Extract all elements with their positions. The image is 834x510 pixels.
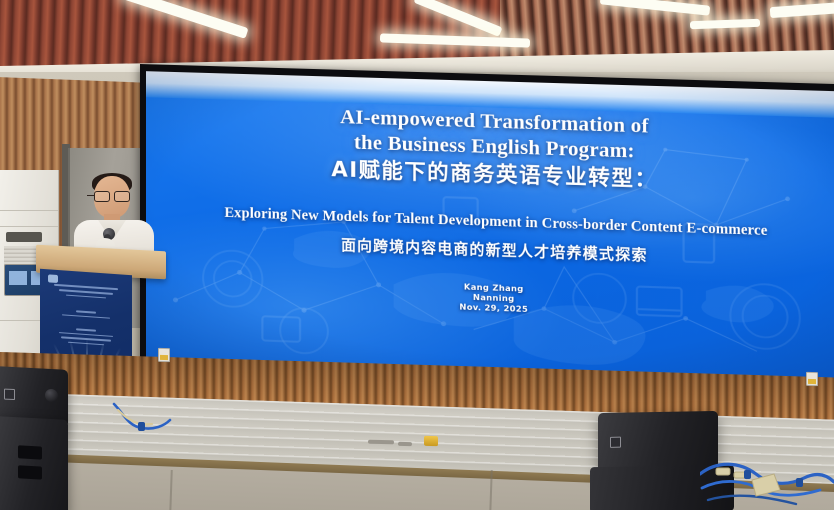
lectern-cable [112,400,172,434]
led-video-wall: AI-empowered Transformation of the Busin… [140,64,834,410]
speaker-port [18,465,42,479]
blue-stage-cables [700,440,834,510]
stage-cable-tape [398,442,412,446]
stage-power-outlet[interactable] [158,348,170,362]
glasses-bridge [87,195,94,196]
speaker-port [18,445,42,459]
speaker-brand-logo [4,389,15,401]
pa-speaker-lower [0,416,68,510]
glasses-icon [94,191,130,200]
ac-label [6,232,42,242]
speaker-brand-logo [610,437,621,448]
conference-hall-photo: AI-empowered Transformation of the Busin… [0,0,834,510]
stage-cable-connector [424,436,438,446]
slide-byline: Kang Zhang Nanning Nov. 29, 2025 [146,270,834,325]
speaker-driver [45,389,58,403]
presentation-slide: AI-empowered Transformation of the Busin… [146,71,834,401]
banner-logo-icon [48,274,58,283]
slide-text-block: AI-empowered Transformation of the Busin… [146,99,834,401]
stage-cable-tape [368,440,394,445]
stage-power-outlet[interactable] [806,372,818,386]
